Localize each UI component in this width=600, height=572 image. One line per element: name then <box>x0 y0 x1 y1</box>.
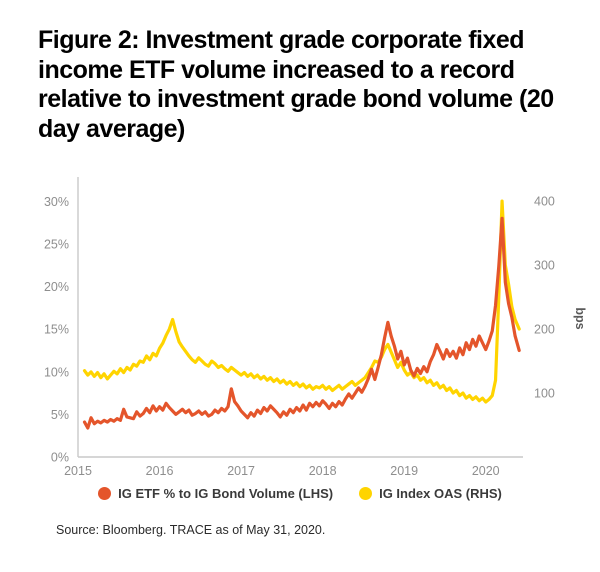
y-axis-right-tick-label: 100 <box>534 387 555 401</box>
chart-svg: 0%5%10%15%20%25%30% 100200300400 2015201… <box>0 168 600 478</box>
x-axis-tick-label: 2018 <box>309 464 337 478</box>
source-note: Source: Bloomberg. TRACE as of May 31, 2… <box>56 523 325 537</box>
y-axis-left-tick-label: 20% <box>44 280 69 294</box>
page-title: Figure 2: Investment grade corporate fix… <box>38 26 558 144</box>
legend-item-ig-etf[interactable]: IG ETF % to IG Bond Volume (LHS) <box>98 486 333 501</box>
y-axis-left-tick-label: 30% <box>44 195 69 209</box>
y-axis-left-tick-label: 15% <box>44 323 69 337</box>
chart-legend: IG ETF % to IG Bond Volume (LHS) IG Inde… <box>0 486 600 501</box>
legend-label-ig-etf: IG ETF % to IG Bond Volume (LHS) <box>118 486 333 501</box>
x-axis-tick-label: 2020 <box>472 464 500 478</box>
x-axis-tick-label: 2015 <box>64 464 92 478</box>
x-axis-tick-label: 2017 <box>227 464 255 478</box>
y-axis-left-tick-label: 5% <box>51 408 69 422</box>
legend-swatch-orange-icon <box>98 487 111 500</box>
y-axis-right-tick-label: 200 <box>534 323 555 337</box>
y-axis-left-tick-label: 10% <box>44 365 69 379</box>
y-axis-right-title: bps <box>573 307 587 329</box>
x-axis-ticks: 201520162017201820192020 <box>64 464 500 478</box>
legend-item-ig-oas[interactable]: IG Index OAS (RHS) <box>359 486 502 501</box>
legend-swatch-yellow-icon <box>359 487 372 500</box>
legend-label-ig-oas: IG Index OAS (RHS) <box>379 486 502 501</box>
y-axis-left-ticks: 0%5%10%15%20%25%30% <box>44 195 69 465</box>
series-line-ig-etf-percent <box>85 218 520 428</box>
y-axis-right-tick-label: 400 <box>534 195 555 209</box>
chart-plot-area: 0%5%10%15%20%25%30% 100200300400 2015201… <box>0 168 600 478</box>
y-axis-left-tick-label: 0% <box>51 451 69 465</box>
figure-root: Figure 2: Investment grade corporate fix… <box>0 0 600 572</box>
series-line-ig-index-oas <box>85 201 520 402</box>
x-axis-tick-label: 2019 <box>390 464 418 478</box>
y-axis-right-tick-label: 300 <box>534 259 555 273</box>
y-axis-right-ticks: 100200300400 <box>534 195 555 401</box>
y-axis-left-tick-label: 25% <box>44 237 69 251</box>
x-axis-tick-label: 2016 <box>146 464 174 478</box>
